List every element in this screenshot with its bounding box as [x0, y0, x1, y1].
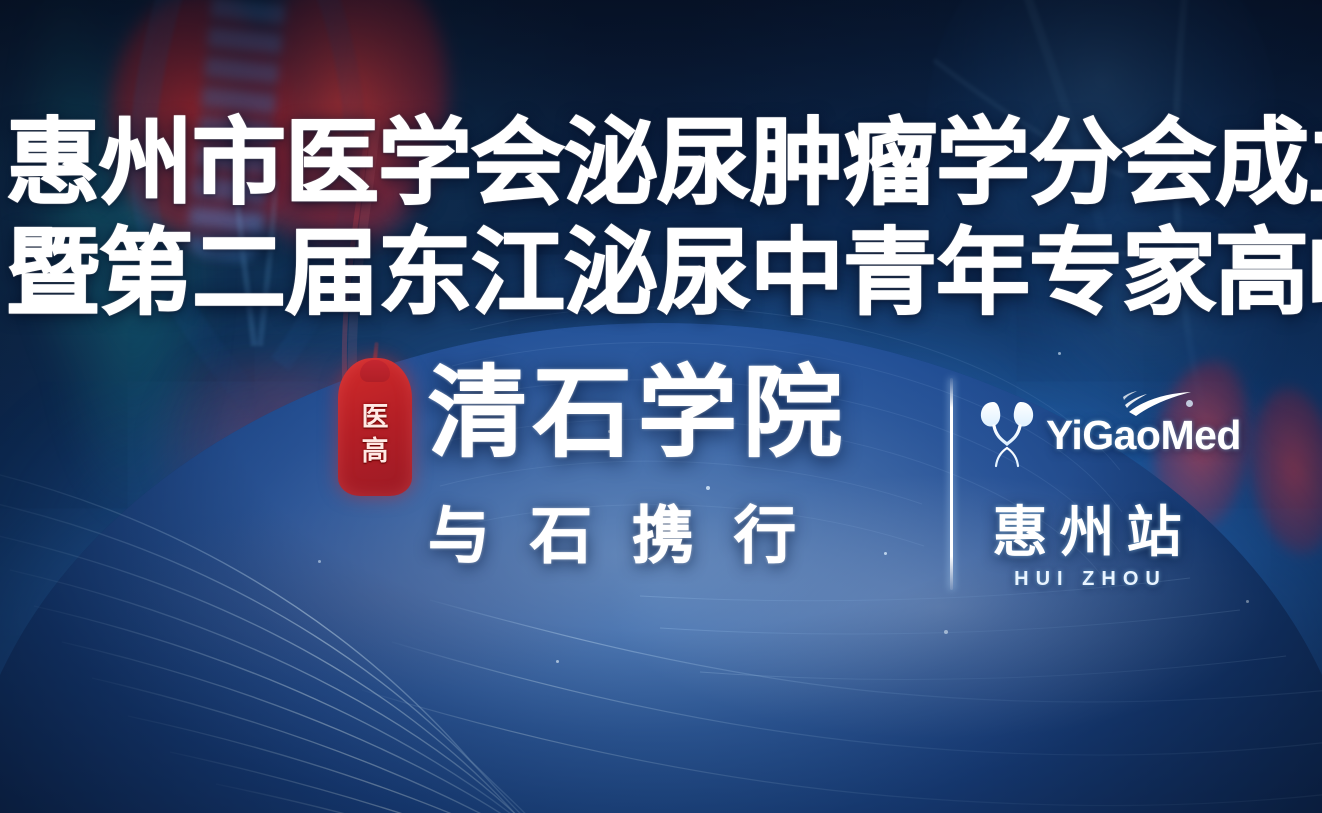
headline-line-2: 暨第二届东江泌尿中青年专家高峰: [6, 218, 1322, 328]
kidney-icon: [976, 398, 1038, 472]
conference-banner: 惠州市医学会泌尿肿瘤学分会成立大 暨第二届东江泌尿中青年专家高峰 医 高 清石学…: [0, 0, 1322, 813]
sponsor-logo: YiGaoMed: [976, 398, 1241, 472]
particle-speck: [884, 552, 887, 555]
brand-title: 清石学院: [428, 356, 848, 469]
particle-speck: [318, 560, 321, 563]
particle-speck: [1058, 352, 1061, 355]
station-name-pinyin: HUI ZHOU: [962, 566, 1212, 592]
brand-block: 清石学院 与石携行: [428, 356, 848, 575]
particle-speck: [556, 660, 559, 663]
station-block: 惠州站 HUI ZHOU: [962, 500, 1212, 592]
page-title: 惠州市医学会泌尿肿瘤学分会成立大 暨第二届东江泌尿中青年专家高峰: [6, 108, 1322, 328]
seal-characters: 医 高: [338, 358, 412, 496]
seal-char-top: 医: [362, 402, 389, 432]
seal-char-bottom: 高: [362, 436, 389, 466]
particle-speck: [1246, 600, 1249, 603]
red-seal-emblem: 医 高: [338, 358, 412, 496]
headline-line-1: 惠州市医学会泌尿肿瘤学分会成立大: [6, 108, 1322, 218]
particle-speck: [944, 630, 948, 634]
swoosh-icon: [1123, 391, 1193, 419]
vertical-divider: [950, 378, 953, 590]
station-name-cn: 惠州站: [962, 500, 1212, 564]
brand-slogan: 与石携行: [428, 499, 848, 575]
